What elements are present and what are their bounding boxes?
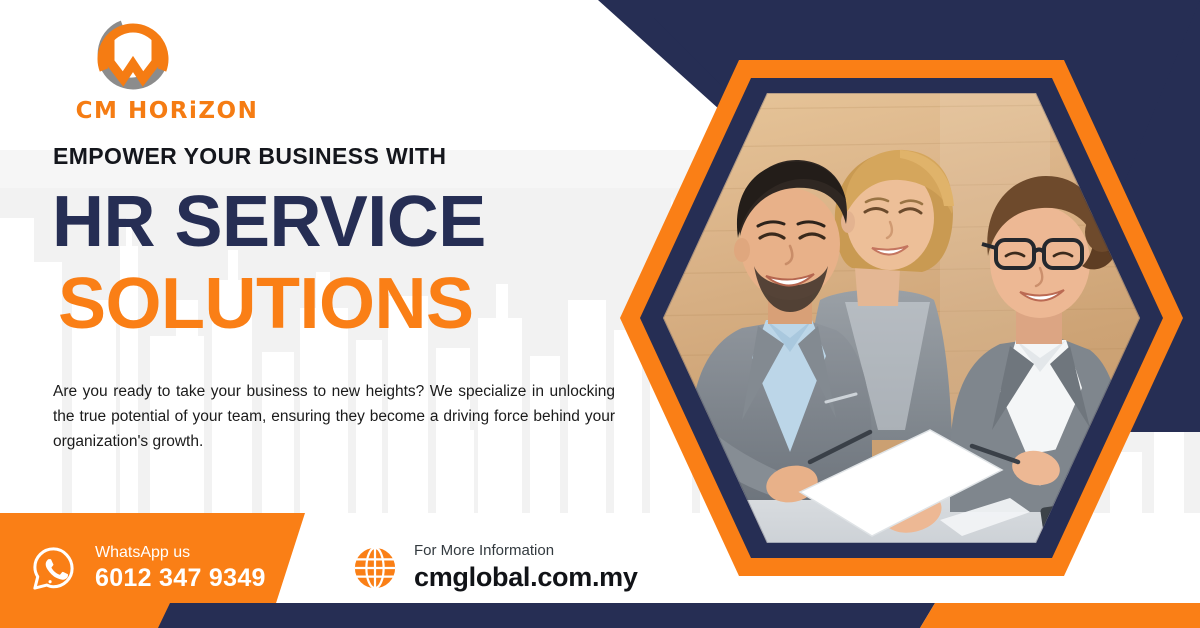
whatsapp-text-block: WhatsApp us 6012 347 9349 [95,543,266,594]
whatsapp-number[interactable]: 6012 347 9349 [95,563,266,594]
eyebrow-text: EMPOWER YOUR BUSINESS WITH [53,143,446,170]
website-url[interactable]: cmglobal.com.my [414,561,638,595]
footer-orange-strip-right [920,603,1200,628]
whatsapp-contact[interactable]: WhatsApp us 6012 347 9349 [30,543,266,594]
whatsapp-label: WhatsApp us [95,543,266,563]
website-contact[interactable]: For More Information cmglobal.com.my [352,541,638,594]
cm-horizon-monogram-icon [90,14,176,94]
headline-accent: SOLUTIONS [58,268,474,340]
headline-primary: HR SERVICE [52,186,486,258]
body-paragraph: Are you ready to take your business to n… [53,379,615,454]
website-text-block: For More Information cmglobal.com.my [414,541,638,594]
footer-navy-strip [158,603,935,628]
brand-logo[interactable]: CM HORiZON [52,14,282,124]
whatsapp-icon [30,545,77,592]
website-label: For More Information [414,541,638,561]
logo-wordmark: CM HORiZON [52,98,282,124]
globe-icon [352,545,398,591]
marketing-banner: CM HORiZON EMPOWER YOUR BUSINESS WITH HR… [0,0,1200,628]
